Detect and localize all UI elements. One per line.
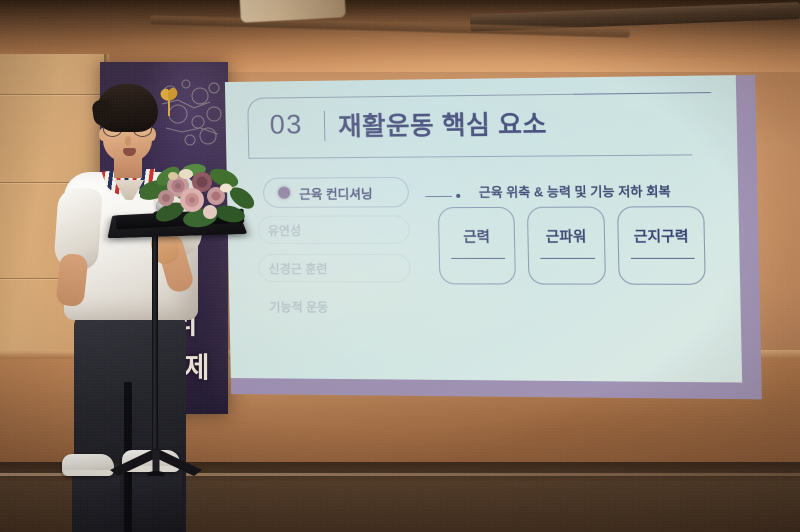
key-box-2-label: 근파워 bbox=[546, 226, 587, 247]
speaker-hair bbox=[96, 84, 158, 132]
presentation-slide: 03 재활운동 핵심 요소 근육 컨디셔닝 근육 위축 & 능력 및 기능 저하… bbox=[225, 75, 742, 382]
flower-bouquet bbox=[140, 160, 256, 230]
key-box-1-underline bbox=[451, 258, 505, 259]
faded-item-2: 신경근 훈련 bbox=[268, 260, 327, 277]
ceiling-duct-left bbox=[239, 0, 346, 23]
music-stand-pole bbox=[152, 224, 158, 456]
photo-scene: 꿈의 길을 찾고 세상을 만들어가는 청소년 문화축제 기리 축제 13:00 … bbox=[0, 0, 800, 532]
key-box-2: 근파워 bbox=[527, 206, 606, 284]
key-box-3-underline bbox=[631, 257, 695, 258]
key-box-2-underline bbox=[540, 258, 595, 259]
key-box-3-label: 근지구력 bbox=[634, 226, 689, 247]
projection-screen: 03 재활운동 핵심 요소 근육 컨디셔닝 근육 위축 & 능력 및 기능 저하… bbox=[225, 75, 762, 399]
arrow-connector-icon bbox=[425, 191, 466, 202]
speaker-nose bbox=[125, 136, 131, 146]
chip-label: 근육 컨디셔닝 bbox=[299, 183, 373, 203]
slide-title: 재활운동 핵심 요소 bbox=[338, 104, 547, 143]
key-box-1: 근력 bbox=[438, 207, 516, 285]
chip-bullet-icon bbox=[278, 187, 290, 199]
faded-item-3: 기능적 운동 bbox=[269, 298, 328, 315]
active-topic-chip[interactable]: 근육 컨디셔닝 bbox=[263, 177, 409, 208]
key-box-3: 근지구력 bbox=[617, 206, 706, 285]
slide-detail-text: 근육 위축 & 능력 및 기능 저하 회복 bbox=[479, 180, 671, 200]
slide-number: 03 bbox=[269, 109, 303, 140]
key-box-1-label: 근력 bbox=[463, 226, 490, 246]
speaker-shoe-left bbox=[62, 454, 114, 476]
key-element-boxes: 근력 근파워 근지구력 bbox=[438, 206, 706, 285]
faded-item-1: 유연성 bbox=[268, 222, 302, 239]
music-stand-base bbox=[108, 448, 204, 476]
